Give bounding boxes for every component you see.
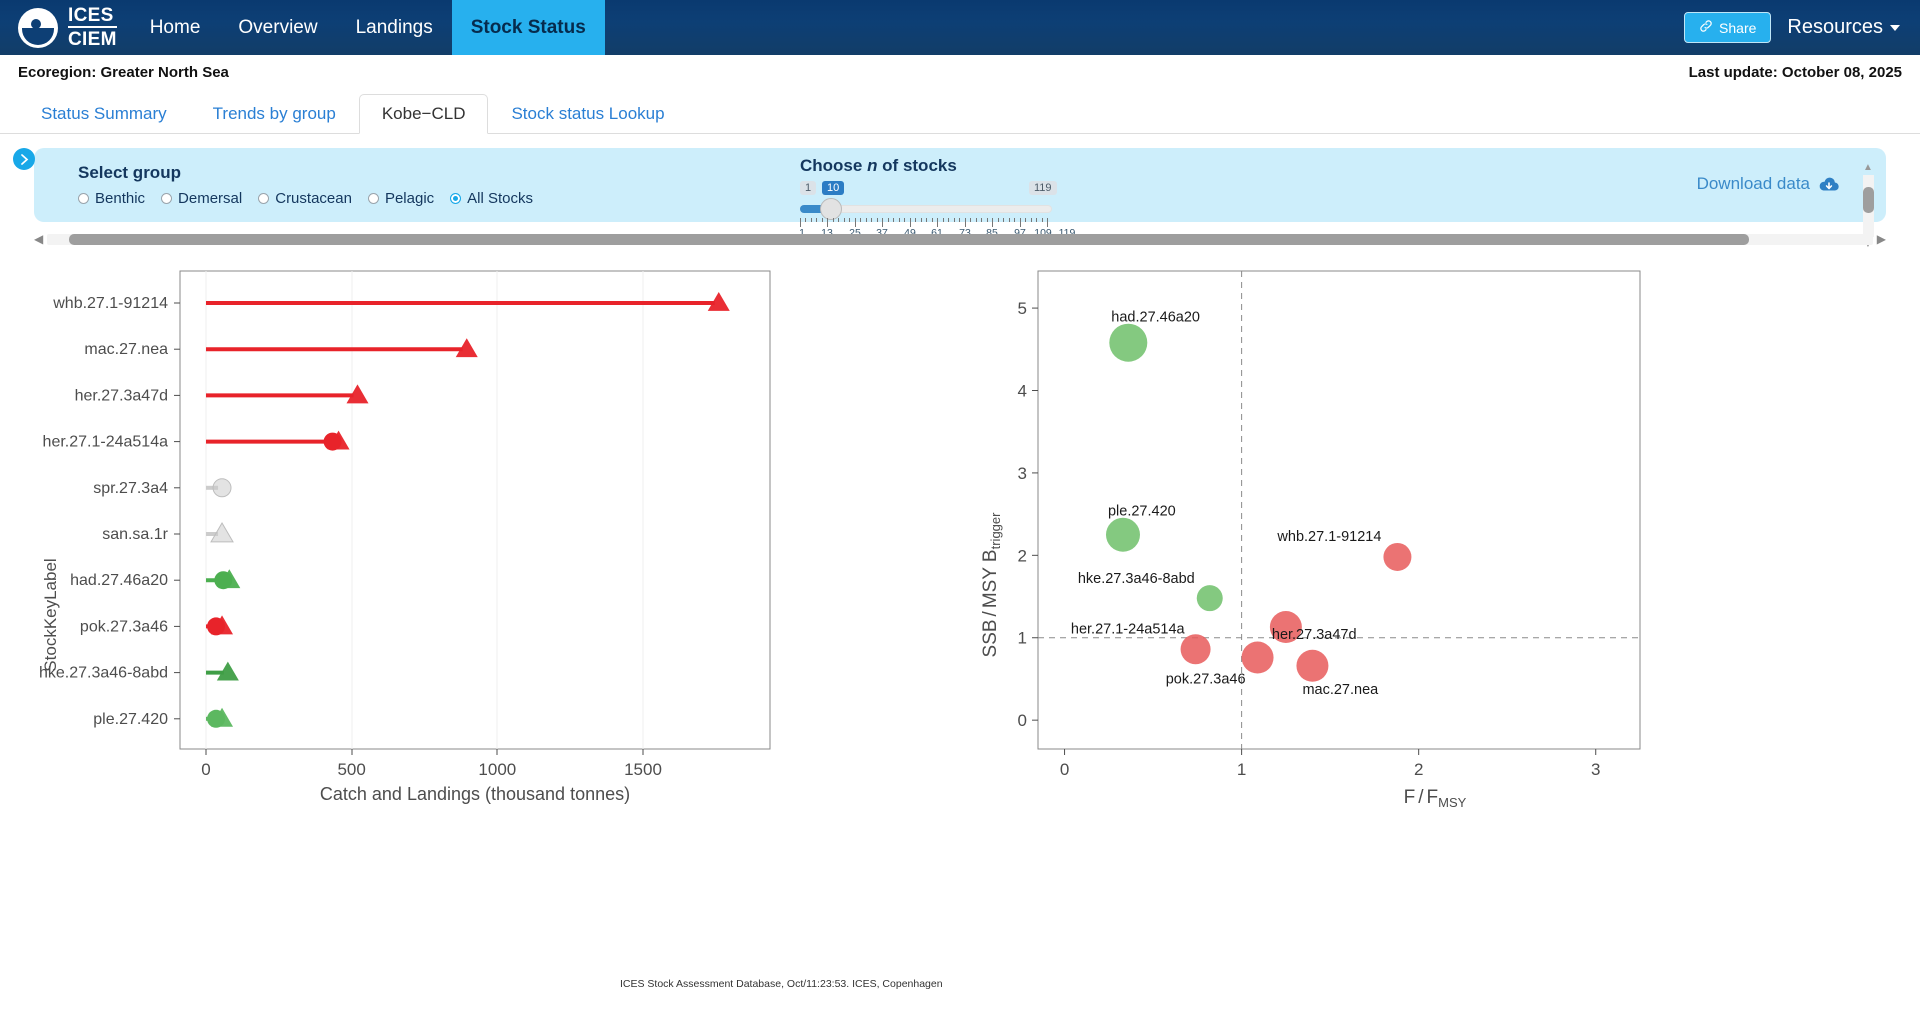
triangle-right-icon[interactable]: ▶ bbox=[1877, 232, 1886, 246]
caret-down-icon bbox=[1890, 25, 1900, 31]
radio-pelagic[interactable]: Pelagic bbox=[368, 190, 434, 207]
download-data-label: Download data bbox=[1697, 174, 1810, 194]
kobe-x-tick-label: 3 bbox=[1591, 760, 1600, 779]
radio-pelagic-label: Pelagic bbox=[385, 190, 434, 207]
cld-x-tick-label: 500 bbox=[337, 760, 365, 779]
brand-logo-block[interactable]: ICES CIEM bbox=[0, 0, 131, 55]
cld-y-tick-label: hke.27.3a46-8abd bbox=[39, 665, 168, 682]
kobe-y-axis-title: SSB/MSY Btrigger bbox=[980, 512, 1003, 658]
ecoregion-label: Ecoregion: Greater North Sea bbox=[18, 64, 229, 81]
kobe-y-tick-label: 4 bbox=[1018, 382, 1027, 401]
tab-trends-by-group[interactable]: Trends by group bbox=[190, 94, 359, 134]
brand-line-1: ICES bbox=[68, 6, 117, 28]
cld-x-tick-labels: 050010001500 bbox=[201, 760, 662, 779]
kobe-y-tick-label: 2 bbox=[1018, 546, 1027, 565]
kobe-y-tick-label: 3 bbox=[1018, 464, 1027, 483]
radio-demersal-label: Demersal bbox=[178, 190, 242, 207]
top-navbar: ICES CIEM Home Overview Landings Stock S… bbox=[0, 0, 1920, 55]
cld-x-tick-label: 0 bbox=[201, 760, 210, 779]
cld-y-tick-label: had.27.46a20 bbox=[70, 572, 168, 589]
kobe-point bbox=[1296, 650, 1328, 682]
kobe-x-tick-label: 0 bbox=[1060, 760, 1069, 779]
kobe-body: 0123450123had.27.46a20ple.27.420hke.27.3… bbox=[1018, 271, 1640, 779]
cld-circle-marker bbox=[324, 433, 342, 451]
kobe-x-tick-label: 1 bbox=[1237, 760, 1246, 779]
kobe-point-label: whb.27.1-91214 bbox=[1276, 529, 1381, 545]
radio-dot-icon bbox=[368, 193, 379, 204]
chevron-right-icon bbox=[20, 154, 29, 165]
slider-knob[interactable] bbox=[820, 198, 842, 220]
kobe-point-label: her.27.3a47d bbox=[1272, 627, 1357, 643]
kobe-point-label: pok.27.3a46 bbox=[1166, 672, 1246, 688]
kobe-point-label: her.27.1-24a514a bbox=[1071, 621, 1186, 637]
panel-collapse-toggle[interactable] bbox=[13, 148, 35, 170]
cld-x-axis-title: Catch and Landings (thousand tonnes) bbox=[320, 784, 630, 804]
cld-x-tick-label: 1500 bbox=[624, 760, 662, 779]
slider-title-prefix: Choose bbox=[800, 156, 867, 175]
kobe-y-tick-label: 1 bbox=[1018, 629, 1027, 648]
control-panel-wrapper: Select group Benthic Demersal Crustacean… bbox=[0, 134, 1920, 247]
radio-crustacean-label: Crustacean bbox=[275, 190, 352, 207]
kobe-point bbox=[1242, 642, 1274, 674]
slider-value-bubble: 10 bbox=[822, 181, 844, 195]
nav-link-home[interactable]: Home bbox=[131, 0, 220, 55]
cld-y-tick-label: whb.27.1-91214 bbox=[52, 295, 168, 312]
tab-stock-status-lookup[interactable]: Stock status Lookup bbox=[488, 94, 687, 134]
radio-demersal[interactable]: Demersal bbox=[161, 190, 242, 207]
resources-menu[interactable]: Resources bbox=[1787, 16, 1900, 39]
vertical-scroll-thumb[interactable] bbox=[1863, 187, 1874, 213]
cld-circle-marker bbox=[207, 710, 225, 728]
tab-status-summary[interactable]: Status Summary bbox=[18, 94, 190, 134]
radio-all-stocks-label: All Stocks bbox=[467, 190, 533, 207]
radio-dot-icon bbox=[161, 193, 172, 204]
cld-chart-svg: StockKeyLabel whb.27.1-91214mac.27.neahe… bbox=[0, 255, 960, 815]
kobe-chart: SSB/MSY Btrigger 0123450123had.27.46a20p… bbox=[960, 255, 1920, 815]
radio-dot-icon bbox=[450, 193, 461, 204]
select-group-block: Select group Benthic Demersal Crustacean… bbox=[34, 163, 533, 207]
radio-all-stocks[interactable]: All Stocks bbox=[450, 190, 533, 207]
resources-label: Resources bbox=[1787, 16, 1883, 39]
cld-circle-marker bbox=[214, 571, 232, 589]
ices-fish-logo-icon bbox=[18, 8, 58, 48]
cld-y-tick-label: ple.27.420 bbox=[93, 711, 168, 728]
cld-y-tick-label: her.27.3a47d bbox=[75, 387, 168, 404]
cld-y-tick-label: san.sa.1r bbox=[102, 526, 168, 543]
cld-y-tick-label: pok.27.3a46 bbox=[80, 618, 168, 635]
cld-y-axis-title: StockKeyLabel bbox=[41, 558, 60, 671]
kobe-point bbox=[1383, 543, 1411, 571]
cld-chart: StockKeyLabel whb.27.1-91214mac.27.neahe… bbox=[0, 255, 960, 815]
triangle-up-icon[interactable]: ▲ bbox=[1863, 162, 1873, 173]
plots-area: StockKeyLabel whb.27.1-91214mac.27.neahe… bbox=[0, 247, 1920, 937]
cld-y-tick-label: mac.27.nea bbox=[84, 341, 168, 358]
kobe-x-tick-label: 2 bbox=[1414, 760, 1423, 779]
cld-y-tick-label: spr.27.3a4 bbox=[93, 480, 168, 497]
radio-dot-icon bbox=[258, 193, 269, 204]
kobe-point-label: hke.27.3a46-8abd bbox=[1078, 571, 1195, 587]
slider-title-suffix: of stocks bbox=[877, 156, 956, 175]
slider-title: Choose n of stocks bbox=[800, 156, 1100, 176]
kobe-point bbox=[1106, 518, 1140, 552]
radio-benthic[interactable]: Benthic bbox=[78, 190, 145, 207]
kobe-point-label: had.27.46a20 bbox=[1111, 310, 1200, 326]
ecoregion-row: Ecoregion: Greater North Sea Last update… bbox=[0, 55, 1920, 89]
nav-link-stock-status[interactable]: Stock Status bbox=[452, 0, 605, 55]
panel-horizontal-scrollbar[interactable]: ◀ ▶ bbox=[34, 231, 1886, 247]
slider-min-bubble: 1 bbox=[800, 181, 816, 195]
kobe-point-label: mac.27.nea bbox=[1302, 682, 1379, 698]
tab-kobe-cld[interactable]: Kobe−CLD bbox=[359, 94, 489, 134]
navbar-right-group: Share Resources bbox=[1684, 0, 1920, 55]
kobe-point bbox=[1197, 585, 1223, 611]
chart-credit: ICES Stock Assessment Database, Oct/11:2… bbox=[620, 978, 943, 990]
slider-ticks bbox=[800, 218, 1052, 227]
kobe-x-axis-title: F/FMSY bbox=[1404, 787, 1467, 810]
cld-circle-marker bbox=[207, 617, 225, 635]
slider-title-italic: n bbox=[867, 156, 877, 175]
control-panel: Select group Benthic Demersal Crustacean… bbox=[34, 148, 1886, 222]
last-update-label: Last update: October 08, 2025 bbox=[1689, 64, 1902, 81]
nav-links: Home Overview Landings Stock Status bbox=[131, 0, 605, 55]
select-group-label: Select group bbox=[78, 163, 533, 183]
tab-bar: Status Summary Trends by group Kobe−CLD … bbox=[0, 89, 1920, 134]
brand-line-2: CIEM bbox=[68, 28, 117, 49]
cld-x-ticks bbox=[206, 749, 643, 755]
kobe-point bbox=[1109, 324, 1147, 362]
group-radio-list: Benthic Demersal Crustacean Pelagic All … bbox=[78, 190, 533, 207]
slider-max-bubble: 119 bbox=[1029, 181, 1057, 195]
nav-link-landings[interactable]: Landings bbox=[337, 0, 452, 55]
cld-y-tick-label: her.27.1-24a514a bbox=[43, 434, 169, 451]
cld-x-tick-label: 1000 bbox=[478, 760, 516, 779]
kobe-y-tick-label: 0 bbox=[1018, 711, 1027, 730]
cld-circle-marker bbox=[213, 479, 231, 497]
download-data-button[interactable]: Download data bbox=[1697, 174, 1840, 194]
share-label: Share bbox=[1719, 20, 1756, 36]
share-button[interactable]: Share bbox=[1684, 12, 1771, 43]
link-chain-icon bbox=[1699, 19, 1713, 36]
kobe-point-label: ple.27.420 bbox=[1108, 504, 1176, 520]
n-stocks-slider-block: Choose n of stocks 1 10 119 bbox=[800, 156, 1100, 241]
radio-crustacean[interactable]: Crustacean bbox=[258, 190, 352, 207]
kobe-chart-svg: SSB/MSY Btrigger 0123450123had.27.46a20p… bbox=[960, 255, 1920, 815]
triangle-left-icon[interactable]: ◀ bbox=[34, 232, 43, 246]
horizontal-scroll-track[interactable] bbox=[47, 234, 1873, 245]
vertical-scroll-track[interactable] bbox=[1863, 175, 1874, 237]
kobe-point bbox=[1181, 634, 1211, 664]
kobe-y-tick-label: 5 bbox=[1018, 299, 1027, 318]
brand-text: ICES CIEM bbox=[68, 6, 117, 49]
svg-text:SSB/MSY Btrigger: SSB/MSY Btrigger bbox=[980, 512, 1003, 658]
radio-dot-icon bbox=[78, 193, 89, 204]
horizontal-scroll-thumb[interactable] bbox=[69, 234, 1749, 245]
cloud-download-icon bbox=[1818, 177, 1840, 192]
slider-bubbles: 1 10 119 bbox=[800, 181, 1100, 197]
slider-track-wrapper[interactable] bbox=[800, 201, 1100, 215]
radio-benthic-label: Benthic bbox=[95, 190, 145, 207]
nav-link-overview[interactable]: Overview bbox=[219, 0, 336, 55]
